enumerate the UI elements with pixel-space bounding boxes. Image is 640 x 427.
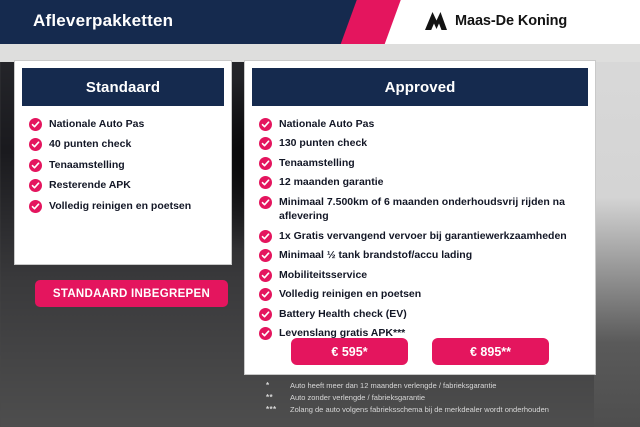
check-circle-icon [259,249,272,262]
page-header: Afleverpakketten Maas-De Koning [0,0,640,44]
package-card-approved: Approved Nationale Auto Pas 130 punten c… [244,60,596,375]
list-item: Nationale Auto Pas [259,117,585,131]
standaard-inbegrepen-button[interactable]: STANDAARD INBEGREPEN [35,280,228,307]
feature-label: 130 punten check [279,136,367,150]
footnote-marker: ** [266,393,284,402]
list-item: Volledig reinigen en poetsen [29,199,221,213]
card-title: Approved [385,79,456,96]
feature-label: Tenaamstelling [49,158,125,172]
list-item: 40 punten check [29,137,221,151]
price-button-row: € 595* € 895** [245,338,595,365]
feature-list-standaard: Nationale Auto Pas 40 punten check Tenaa… [15,117,231,213]
feature-label: 1x Gratis vervangend vervoer bij garanti… [279,229,567,243]
check-circle-icon [29,138,42,151]
check-circle-icon [259,176,272,189]
list-item: Minimaal 7.500km of 6 maanden onderhouds… [259,195,585,224]
footnote-row: * Auto heeft meer dan 12 maanden verleng… [266,381,626,391]
price-button-895[interactable]: € 895** [432,338,549,365]
page-title: Afleverpakketten [33,11,173,31]
footnote-row: *** Zolang de auto volgens fabrieksschem… [266,405,626,415]
check-circle-icon [259,308,272,321]
list-item: Resterende APK [29,178,221,192]
feature-label: Resterende APK [49,178,131,192]
brand-name: Maas-De Koning [455,13,567,29]
feature-label: Tenaamstelling [279,156,355,170]
footnote-text: Zolang de auto volgens fabrieksschema bi… [290,405,549,415]
maas-de-koning-m-logo-icon [424,11,448,31]
list-item: 130 punten check [259,136,585,150]
list-item: 12 maanden garantie [259,175,585,189]
list-item: Battery Health check (EV) [259,307,585,321]
check-circle-icon [29,118,42,131]
footnote-row: ** Auto zonder verlengde / fabrieksgaran… [266,393,626,403]
feature-list-approved: Nationale Auto Pas 130 punten check Tena… [245,117,595,341]
list-item: Tenaamstelling [29,158,221,172]
footnote-marker: * [266,381,284,390]
feature-label: Minimaal 7.500km of 6 maanden onderhouds… [279,195,585,224]
feature-label: 12 maanden garantie [279,175,383,189]
feature-label: Minimaal ½ tank brandstof/accu lading [279,248,472,262]
check-circle-icon [259,196,272,209]
check-circle-icon [29,200,42,213]
check-circle-icon [259,137,272,150]
list-item: Volledig reinigen en poetsen [259,287,585,301]
card-title: Standaard [86,79,160,96]
slide-canvas: Afleverpakketten Maas-De Koning Standaar… [0,0,640,427]
footnote-text: Auto zonder verlengde / fabrieksgarantie [290,393,425,403]
list-item: 1x Gratis vervangend vervoer bij garanti… [259,229,585,243]
list-item: Nationale Auto Pas [29,117,221,131]
feature-label: Nationale Auto Pas [279,117,374,131]
background-right-band [594,44,640,427]
feature-label: Nationale Auto Pas [49,117,144,131]
feature-label: Volledig reinigen en poetsen [279,287,421,301]
check-circle-icon [259,288,272,301]
price-button-595[interactable]: € 595* [291,338,408,365]
list-item: Tenaamstelling [259,156,585,170]
feature-label: Mobiliteitsservice [279,268,367,282]
card-header-standaard: Standaard [22,68,224,106]
brand-logo: Maas-De Koning [424,11,567,31]
check-circle-icon [29,179,42,192]
feature-label: Battery Health check (EV) [279,307,407,321]
footnote-text: Auto heeft meer dan 12 maanden verlengde… [290,381,496,391]
footnote-marker: *** [266,405,284,414]
list-item: Mobiliteitsservice [259,268,585,282]
feature-label: Volledig reinigen en poetsen [49,199,191,213]
footnotes: * Auto heeft meer dan 12 maanden verleng… [266,381,626,416]
check-circle-icon [259,118,272,131]
list-item: Minimaal ½ tank brandstof/accu lading [259,248,585,262]
check-circle-icon [259,157,272,170]
package-card-standaard: Standaard Nationale Auto Pas 40 punten c… [14,60,232,265]
feature-label: 40 punten check [49,137,131,151]
check-circle-icon [259,269,272,282]
card-header-approved: Approved [252,68,588,106]
check-circle-icon [259,230,272,243]
check-circle-icon [29,159,42,172]
